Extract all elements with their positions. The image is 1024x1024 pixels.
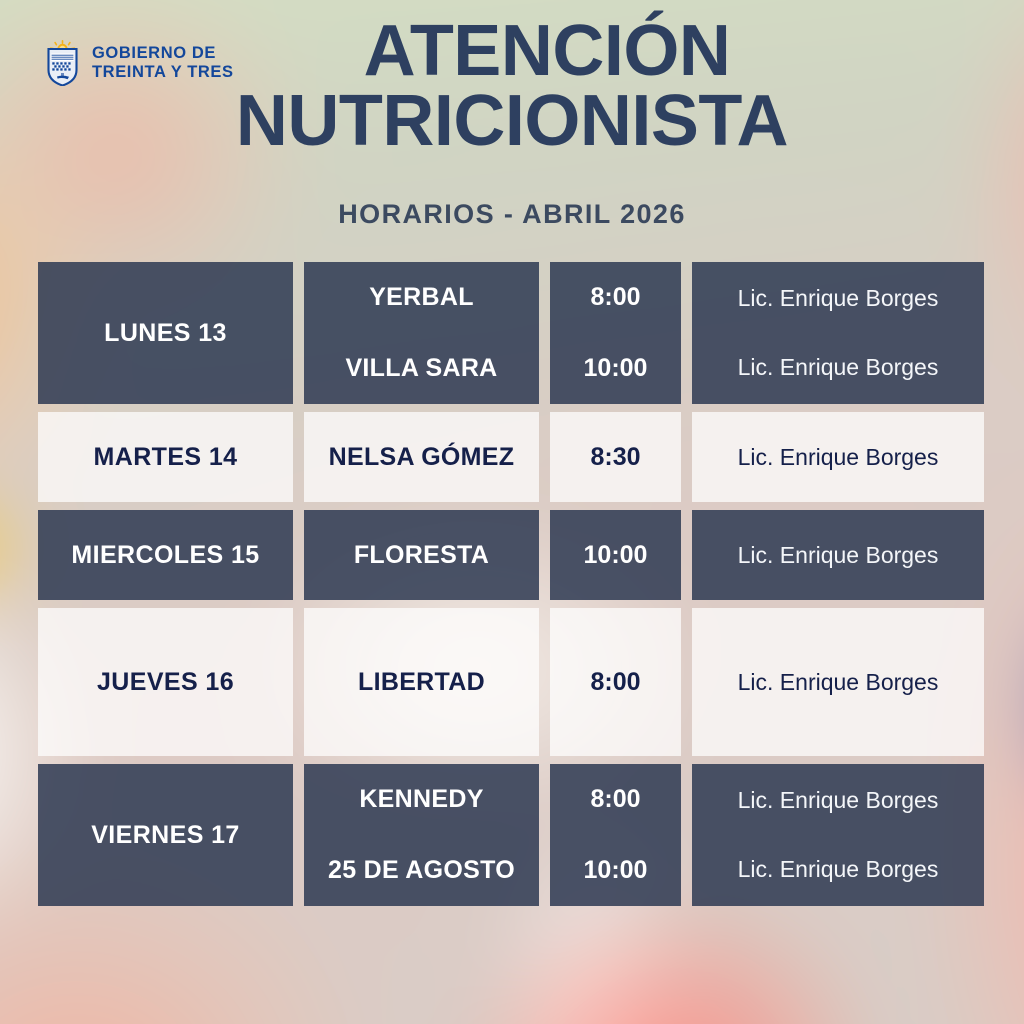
time-cell: 10:00: [550, 510, 681, 600]
place-label: YERBAL: [369, 283, 474, 312]
day-label: LUNES 13: [104, 319, 227, 348]
professional-label: Lic. Enrique Borges: [738, 787, 939, 814]
professional-label: Lic. Enrique Borges: [738, 444, 939, 471]
place-cell: LIBERTAD: [304, 608, 539, 756]
place-label: 25 DE AGOSTO: [328, 856, 515, 885]
day-cell: MARTES 14: [38, 412, 293, 502]
day-cell: LUNES 13: [38, 262, 293, 404]
title-line-1: ATENCIÓN: [0, 17, 1024, 87]
place-cell: YERBAL VILLA SARA: [304, 262, 539, 404]
day-label: MIERCOLES 15: [71, 541, 259, 570]
professional-cell: Lic. Enrique Borges: [692, 608, 984, 756]
time-label: 10:00: [584, 541, 648, 570]
time-label: 8:00: [590, 785, 640, 814]
poster: III GOBIERNO DE TREINTA Y TRES ATENCIÓN …: [0, 0, 1024, 1024]
day-cell: JUEVES 16: [38, 608, 293, 756]
place-cell: NELSA GÓMEZ: [304, 412, 539, 502]
time-label: 8:00: [590, 283, 640, 312]
professional-cell: Lic. Enrique Borges Lic. Enrique Borges: [692, 764, 984, 906]
time-label: 10:00: [584, 354, 648, 383]
table-row: MARTES 14 NELSA GÓMEZ 8:30 Lic. Enrique …: [38, 412, 984, 502]
time-cell: 8:30: [550, 412, 681, 502]
professional-cell: Lic. Enrique Borges Lic. Enrique Borges: [692, 262, 984, 404]
professional-label: Lic. Enrique Borges: [738, 285, 939, 312]
place-label: VILLA SARA: [345, 354, 497, 383]
place-cell: KENNEDY 25 DE AGOSTO: [304, 764, 539, 906]
time-label: 8:00: [590, 668, 640, 697]
time-label: 8:30: [590, 443, 640, 472]
place-label: NELSA GÓMEZ: [329, 443, 515, 472]
page-title: ATENCIÓN NUTRICIONISTA: [0, 17, 1024, 157]
day-label: JUEVES 16: [97, 668, 234, 697]
place-label: LIBERTAD: [358, 668, 485, 697]
page-subtitle: HORARIOS - ABRIL 2026: [0, 199, 1024, 230]
place-label: KENNEDY: [359, 785, 483, 814]
day-label: MARTES 14: [94, 443, 238, 472]
table-row: JUEVES 16 LIBERTAD 8:00 Lic. Enrique Bor…: [38, 608, 984, 756]
table-row: MIERCOLES 15 FLORESTA 10:00 Lic. Enrique…: [38, 510, 984, 600]
professional-cell: Lic. Enrique Borges: [692, 510, 984, 600]
professional-label: Lic. Enrique Borges: [738, 669, 939, 696]
title-line-2: NUTRICIONISTA: [0, 87, 1024, 157]
table-row: LUNES 13 YERBAL VILLA SARA 8:00 10:00 Li…: [38, 262, 984, 404]
professional-label: Lic. Enrique Borges: [738, 542, 939, 569]
day-cell: MIERCOLES 15: [38, 510, 293, 600]
time-label: 10:00: [584, 856, 648, 885]
time-cell: 8:00: [550, 608, 681, 756]
schedule-table: LUNES 13 YERBAL VILLA SARA 8:00 10:00 Li…: [38, 262, 984, 906]
professional-cell: Lic. Enrique Borges: [692, 412, 984, 502]
day-cell: VIERNES 17: [38, 764, 293, 906]
professional-label: Lic. Enrique Borges: [738, 354, 939, 381]
place-label: FLORESTA: [354, 541, 489, 570]
time-cell: 8:00 10:00: [550, 262, 681, 404]
time-cell: 8:00 10:00: [550, 764, 681, 906]
place-cell: FLORESTA: [304, 510, 539, 600]
table-row: VIERNES 17 KENNEDY 25 DE AGOSTO 8:00 10:…: [38, 764, 984, 906]
day-label: VIERNES 17: [91, 821, 240, 850]
professional-label: Lic. Enrique Borges: [738, 856, 939, 883]
